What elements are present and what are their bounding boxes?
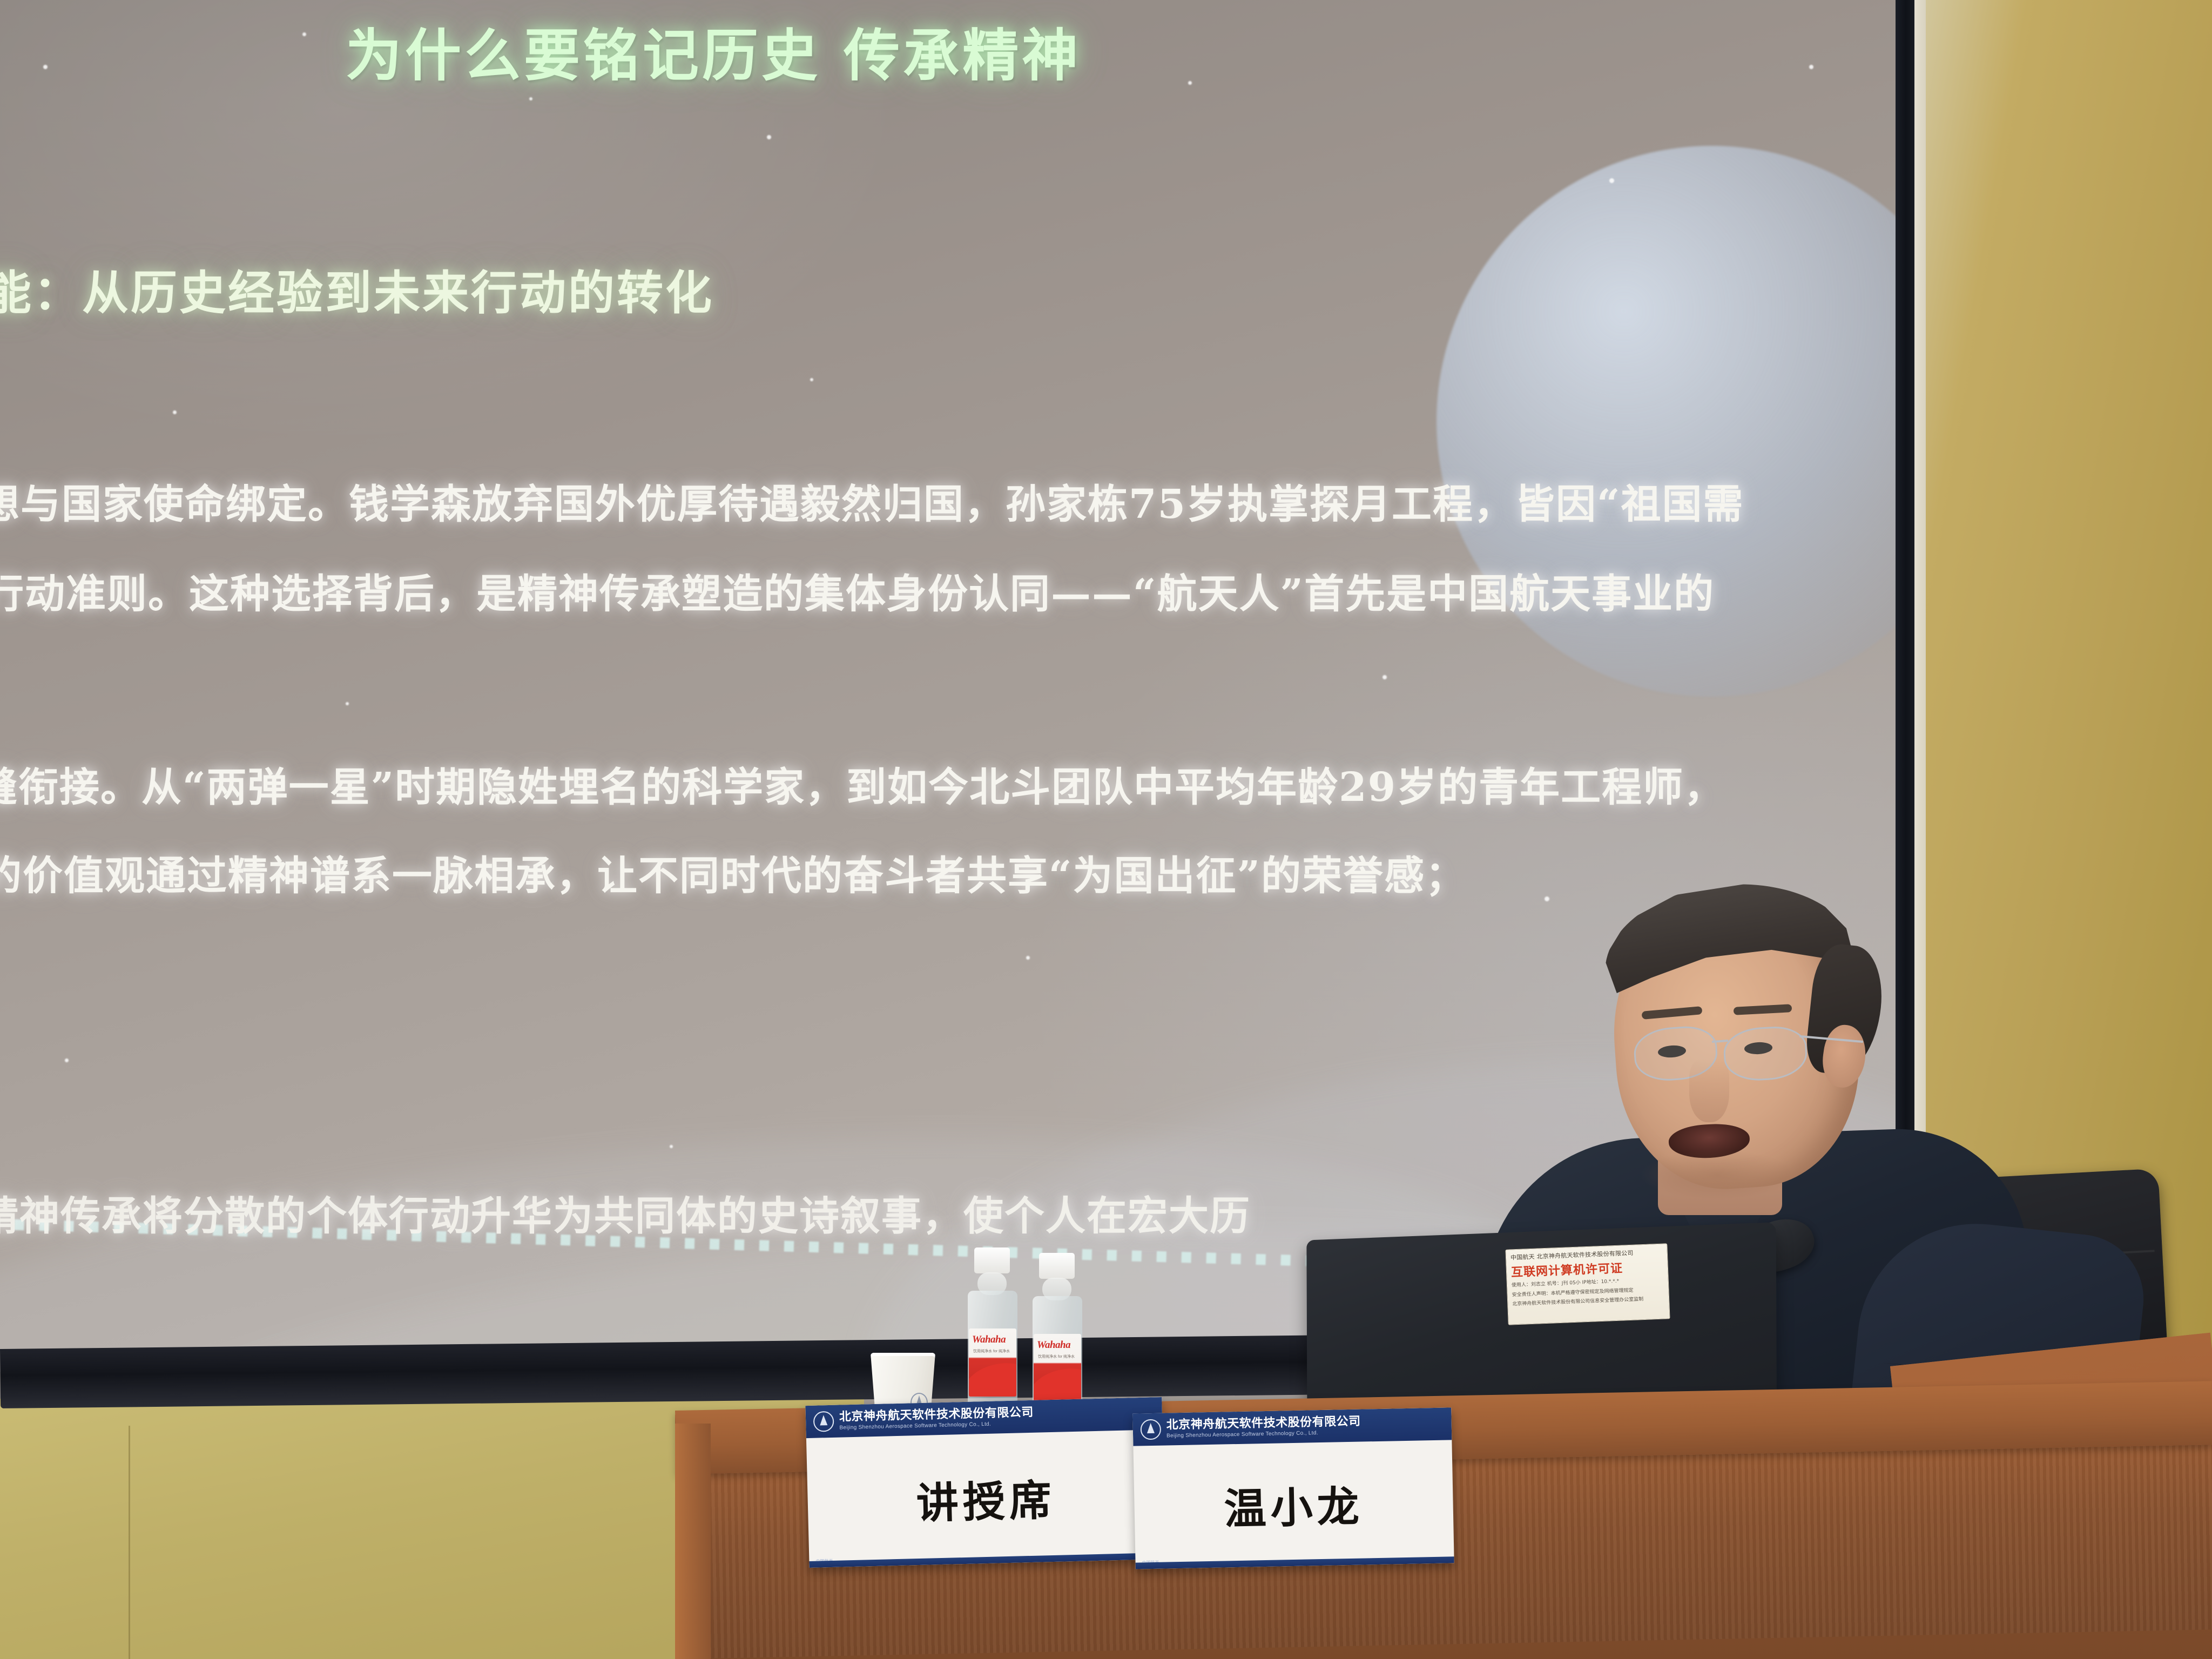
screenshot-root: 为什么要铭记历史 传承精神 能：从历史经验到未来行动的转化 想与国家使命绑定。钱… [0,0,2212,1659]
slide-sparkle [670,1145,673,1148]
slide-body-line: 行动准则。这种选择背后，是精神传承塑造的集体身份认同——“航天人”首先是中国航天… [0,562,1715,619]
slide-body-line: 精神传承将分散的个体行动升华为共同体的史诗叙事，使个人在宏大历 [0,1184,1251,1242]
slide-body-line: 缝衔接。从“两弹一星”时期隐姓埋名的科学家，到如今北斗团队中平均年龄29岁的青年… [0,755,1725,813]
nameplate-header: 北京神舟航天软件技术股份有限公司 Beijing Shenzhou Aerosp… [1132,1407,1452,1446]
bottle-label: Wahaha 饮用纯净水 for 纯净水 [969,1328,1016,1397]
slide-sparkle [1188,81,1192,85]
nameplate-name: 讲授席 [806,1429,1166,1568]
slide-sparkle [529,97,532,100]
bottle-sub-label: 饮用纯净水 for 纯净水 [1038,1354,1075,1360]
bottle-cap [1039,1253,1075,1279]
nameplate-name: 温小龙 [1133,1440,1454,1569]
bottle-brand: Wahaha [972,1334,1006,1346]
slide-body-line: 想与国家使命绑定。钱学森放弃国外优厚待遇毅然归国，孙家栋75岁执掌探月工程，皆因… [0,472,1744,530]
nameplate-speaker-name: 北京神舟航天软件技术股份有限公司 Beijing Shenzhou Aerosp… [1132,1407,1454,1569]
aerospace-arrow-logo-icon [813,1411,834,1432]
slide-sparkle [767,135,771,139]
presenter-chin-shadow [1642,1150,1793,1199]
nameplate-company-block: 北京神舟航天软件技术股份有限公司 Beijing Shenzhou Aerosp… [1166,1416,1361,1439]
podium-left-edge [675,1424,711,1659]
slide-sparkle [43,65,48,69]
bottle-swoosh-graphic [969,1356,1016,1397]
slide-sparkle [810,378,813,381]
slide-sparkle [302,32,306,36]
nameplate-lecturer-seat: 北京神舟航天软件技术股份有限公司 Beijing Shenzhou Aerosp… [805,1397,1165,1568]
slide-sparkle [346,702,349,705]
slide-title: 为什么要铭记历史 传承精神 [346,10,1081,91]
laptop-asset-sticker: 中国航天 北京神舟航天软件技术股份有限公司 互联网计算机许可证 使用人：刘志立 … [1505,1243,1670,1325]
bottle-sub-label: 饮用纯净水 for 纯净水 [973,1349,1010,1354]
presenter-nose [1689,1058,1729,1122]
bottle-brand: Wahaha [1037,1339,1070,1351]
slide-sparkle [173,410,177,414]
nameplate-company-block: 北京神舟航天软件技术股份有限公司 Beijing Shenzhou Aerosp… [839,1407,1034,1431]
slide-subtitle: 能：从历史经验到未来行动的转化 [0,255,714,322]
slide-sparkle [1609,178,1614,183]
slide-sparkle [65,1058,69,1062]
nameplate-company-cn: 北京神舟航天软件技术股份有限公司 [839,1407,1034,1424]
bottle-label: Wahaha 饮用纯净水 for 纯净水 [1034,1334,1081,1402]
wall-panel-seam [129,1426,130,1659]
nameplate-company-cn: 北京神舟航天软件技术股份有限公司 [1166,1416,1361,1432]
slide-sparkle [1809,65,1813,69]
slide-sparkle [1382,675,1387,679]
slide-sparkle [1026,956,1030,960]
water-bottle: Wahaha 饮用纯净水 for 纯净水 [967,1247,1019,1426]
aerospace-arrow-logo-icon [1140,1419,1161,1440]
slide-body-line: 的价值观通过精神谱系一脉相承，让不同时代的奋斗者共享“为国出征”的荣誉感； [0,844,1466,901]
bottle-swoosh-graphic [1034,1361,1081,1402]
bottle-cap [974,1247,1010,1273]
